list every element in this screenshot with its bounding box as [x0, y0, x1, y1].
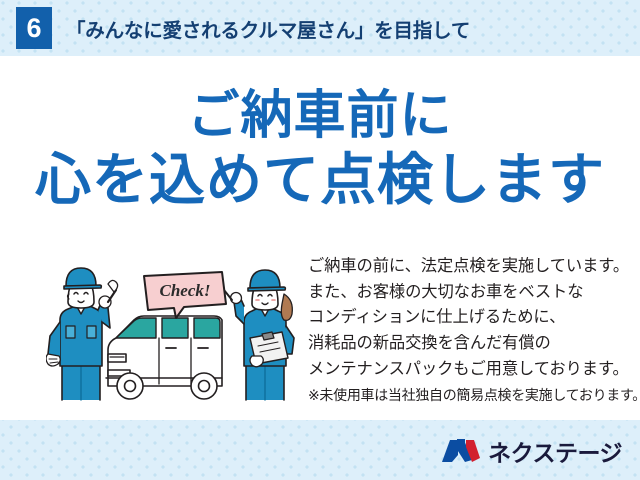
- content-panel: ご納車前に 心を込めて点検します: [0, 56, 640, 420]
- banner-header: 6 「みんなに愛されるクルマ屋さん」を目指して: [0, 0, 640, 56]
- body-note: ※未使用車は当社独自の簡易点検を実施しております。: [308, 384, 640, 406]
- headline-line-1: ご納車前に: [0, 86, 640, 147]
- van-graphic: [106, 316, 222, 399]
- main-headline: ご納車前に 心を込めて点検します: [0, 86, 640, 213]
- section-number-badge: 6: [16, 7, 52, 49]
- male-mechanic-figure: [46, 268, 118, 400]
- body-line-2: また、お客様の大切なお車をベストな: [308, 280, 640, 306]
- body-line-5: メンテナンスパックもご用意しております。: [308, 357, 640, 383]
- female-mechanic-figure: [224, 270, 294, 400]
- promotional-banner: 6 「みんなに愛されるクルマ屋さん」を目指して ご納車前に 心を込めて点検します: [0, 0, 640, 480]
- nextage-n-logo-icon: [441, 438, 481, 464]
- two-mechanics-with-van-illustration: Check!: [46, 258, 306, 408]
- speech-bubble-text: Check!: [160, 281, 211, 300]
- body-line-3: コンディションに仕上げるために、: [308, 305, 640, 331]
- body-line-4: 消耗品の新品交換を含んだ有償の: [308, 331, 640, 357]
- content-row: Check! ご納車の前に、法定点検を実施しています。 また、お客様の大切なお車…: [0, 252, 640, 412]
- brand-name: ネクステージ: [488, 434, 622, 468]
- headline-line-2: 心を込めて点検します: [0, 147, 640, 213]
- body-line-1: ご納車の前に、法定点検を実施しています。: [308, 254, 640, 280]
- header-title: 「みんなに愛されるクルマ屋さん」を目指して: [66, 14, 470, 43]
- brand-footer: ネクステージ: [441, 434, 622, 468]
- body-text-block: ご納車の前に、法定点検を実施しています。 また、お客様の大切なお車をベストな コ…: [308, 254, 640, 406]
